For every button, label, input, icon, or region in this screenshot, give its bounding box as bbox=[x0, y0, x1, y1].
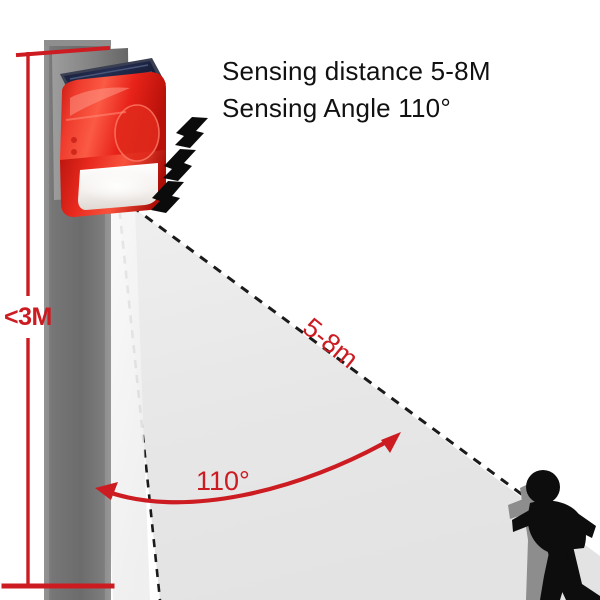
diagram-canvas: Sensing distance 5-8M Sensing Angle 110°… bbox=[0, 0, 600, 600]
indicator-dot-2 bbox=[71, 149, 77, 155]
detect-angle-label: 110° bbox=[196, 466, 250, 497]
sound-bolt-1 bbox=[175, 117, 208, 148]
sensing-angle-text: Sensing Angle 110° bbox=[222, 92, 451, 125]
solar-siren-alarm[interactable] bbox=[52, 48, 166, 217]
geometry-layer bbox=[0, 0, 600, 600]
sound-bolt-2 bbox=[163, 149, 196, 181]
detection-cone-fill bbox=[118, 196, 600, 600]
indicator-dot-1 bbox=[71, 137, 77, 143]
sensing-distance-text: Sensing distance 5-8M bbox=[222, 55, 491, 88]
pole-top-cap bbox=[44, 40, 111, 46]
mount-height-label: <3M bbox=[4, 303, 52, 332]
detection-cone bbox=[118, 196, 600, 600]
person-head bbox=[526, 470, 560, 504]
lens-glow bbox=[79, 170, 155, 202]
